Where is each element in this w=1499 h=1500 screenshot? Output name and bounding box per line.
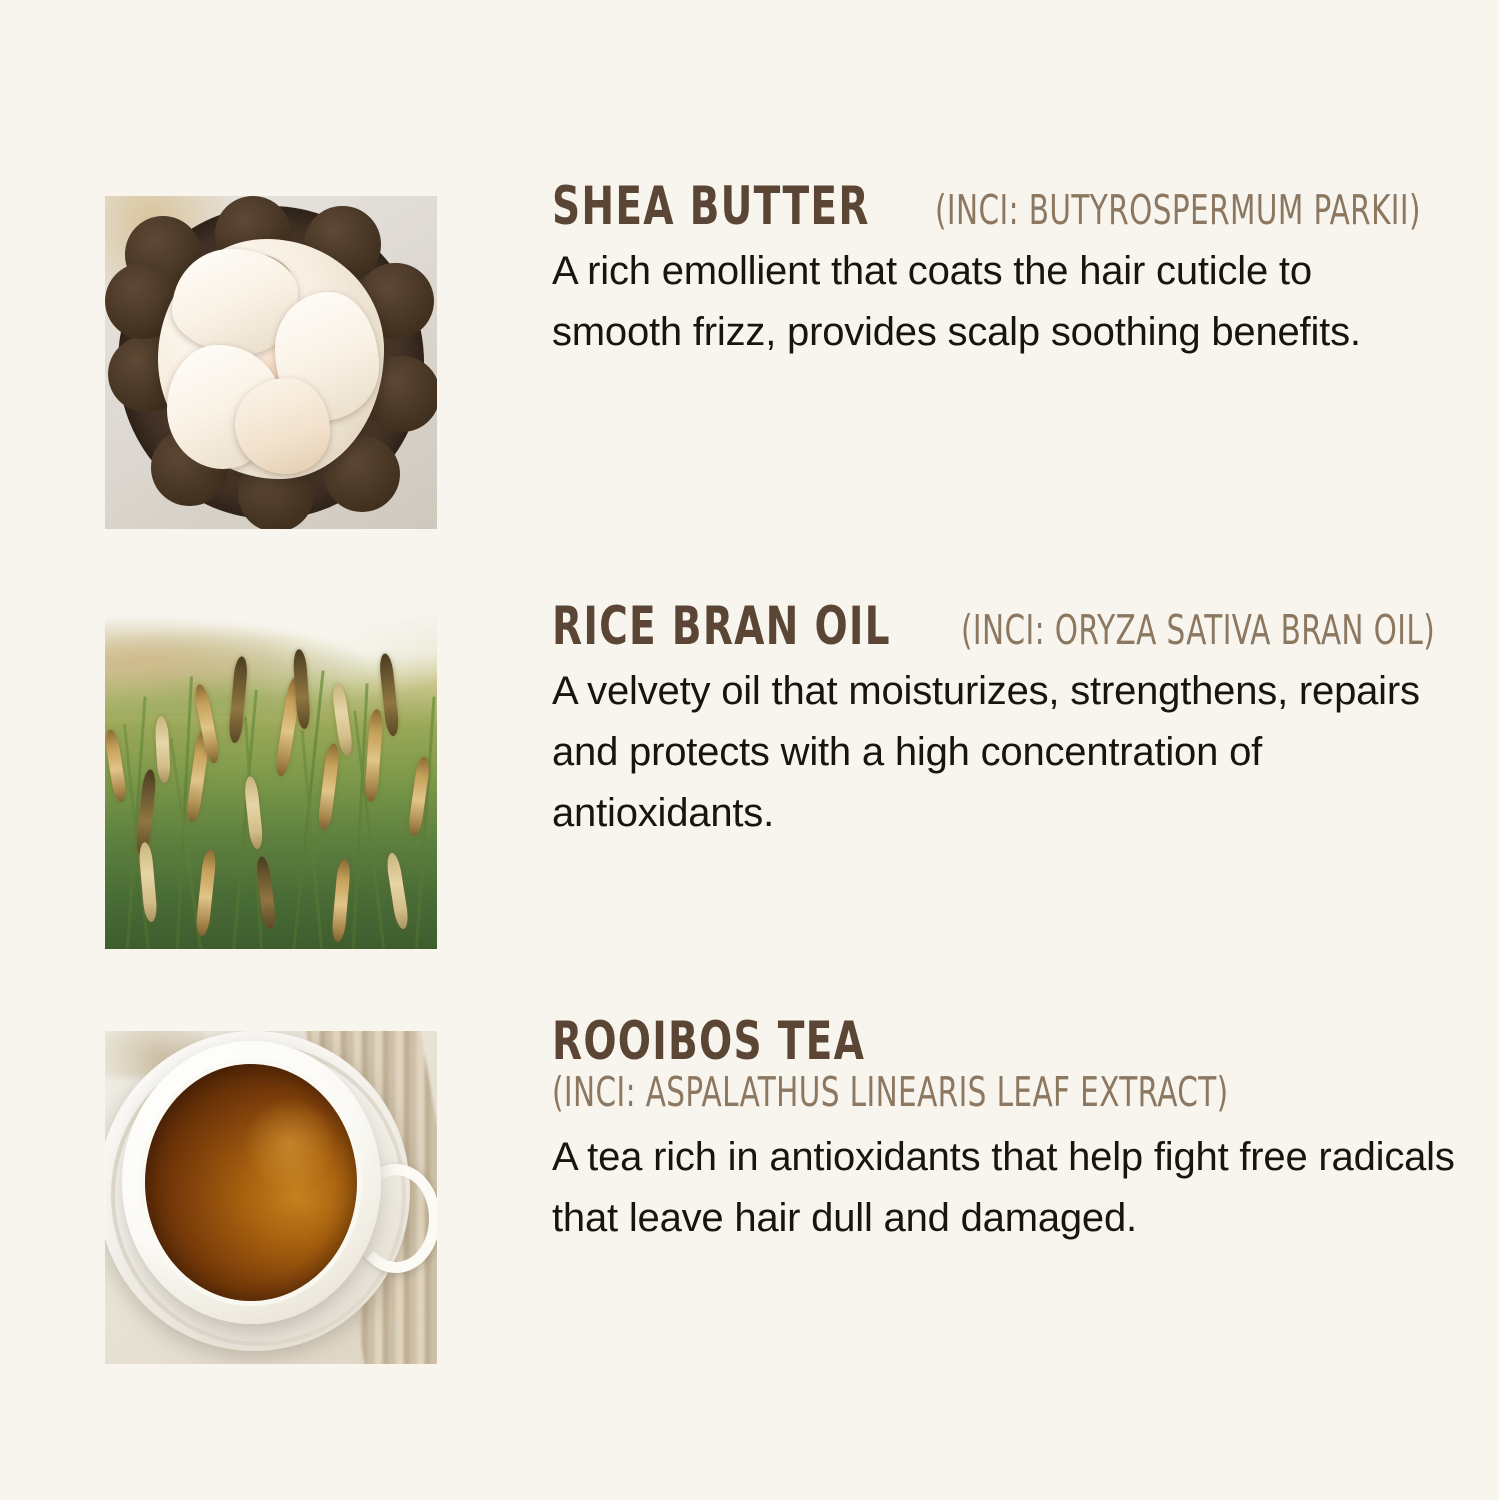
tea-liquid [145, 1064, 357, 1302]
ingredient-inci: (INCI: BUTYROSPERMUM PARKII) [935, 190, 1421, 231]
shea-butter-photo [105, 196, 437, 529]
rice-bran-oil-title: RICE BRAN OIL(INCI: ORYZA SATIVA BRAN OI… [552, 600, 1499, 653]
rooibos-tea-photo [105, 1031, 437, 1364]
ingredient-name: ROOIBOS TEA [552, 1015, 865, 1068]
ingredient-inci: (INCI: ORYZA SATIVA BRAN OIL) [961, 610, 1435, 651]
rice-bran-oil-description: A velvety oil that moisturizes, strength… [552, 661, 1452, 845]
ingredient-row-rooibos-tea: ROOIBOS TEA (INCI: ASPALATHUS LINEARIS L… [0, 1015, 1499, 1380]
shea-butter-mass [158, 239, 384, 479]
rice-bran-oil-text-column: RICE BRAN OIL(INCI: ORYZA SATIVA BRAN OI… [552, 600, 1499, 845]
ingredient-row-rice-bran-oil: RICE BRAN OIL(INCI: ORYZA SATIVA BRAN OI… [0, 600, 1499, 965]
rooibos-tea-description: A tea rich in antioxidants that help fig… [552, 1127, 1479, 1249]
rooibos-tea-title: ROOIBOS TEA (INCI: ASPALATHUS LINEARIS L… [552, 1015, 1479, 1113]
ingredient-row-shea-butter: SHEA BUTTER(INCI: BUTYROSPERMUM PARKII) … [0, 180, 1499, 545]
rice-field-photo [105, 616, 437, 949]
tea-surface-highlight [243, 1097, 336, 1192]
tea-cup [122, 1041, 381, 1324]
ingredient-benefits-panel: SHEA BUTTER(INCI: BUTYROSPERMUM PARKII) … [0, 0, 1499, 1500]
ingredient-name: SHEA BUTTER [552, 180, 870, 233]
rooibos-tea-text-column: ROOIBOS TEA (INCI: ASPALATHUS LINEARIS L… [552, 1015, 1499, 1249]
shea-butter-description: A rich emollient that coats the hair cut… [552, 241, 1452, 363]
shea-butter-text-column: SHEA BUTTER(INCI: BUTYROSPERMUM PARKII) … [552, 180, 1499, 363]
ingredient-inci: (INCI: ASPALATHUS LINEARIS LEAF EXTRACT) [552, 1072, 1294, 1113]
shea-butter-title: SHEA BUTTER(INCI: BUTYROSPERMUM PARKII) [552, 180, 1499, 233]
ingredient-name: RICE BRAN OIL [552, 600, 891, 653]
